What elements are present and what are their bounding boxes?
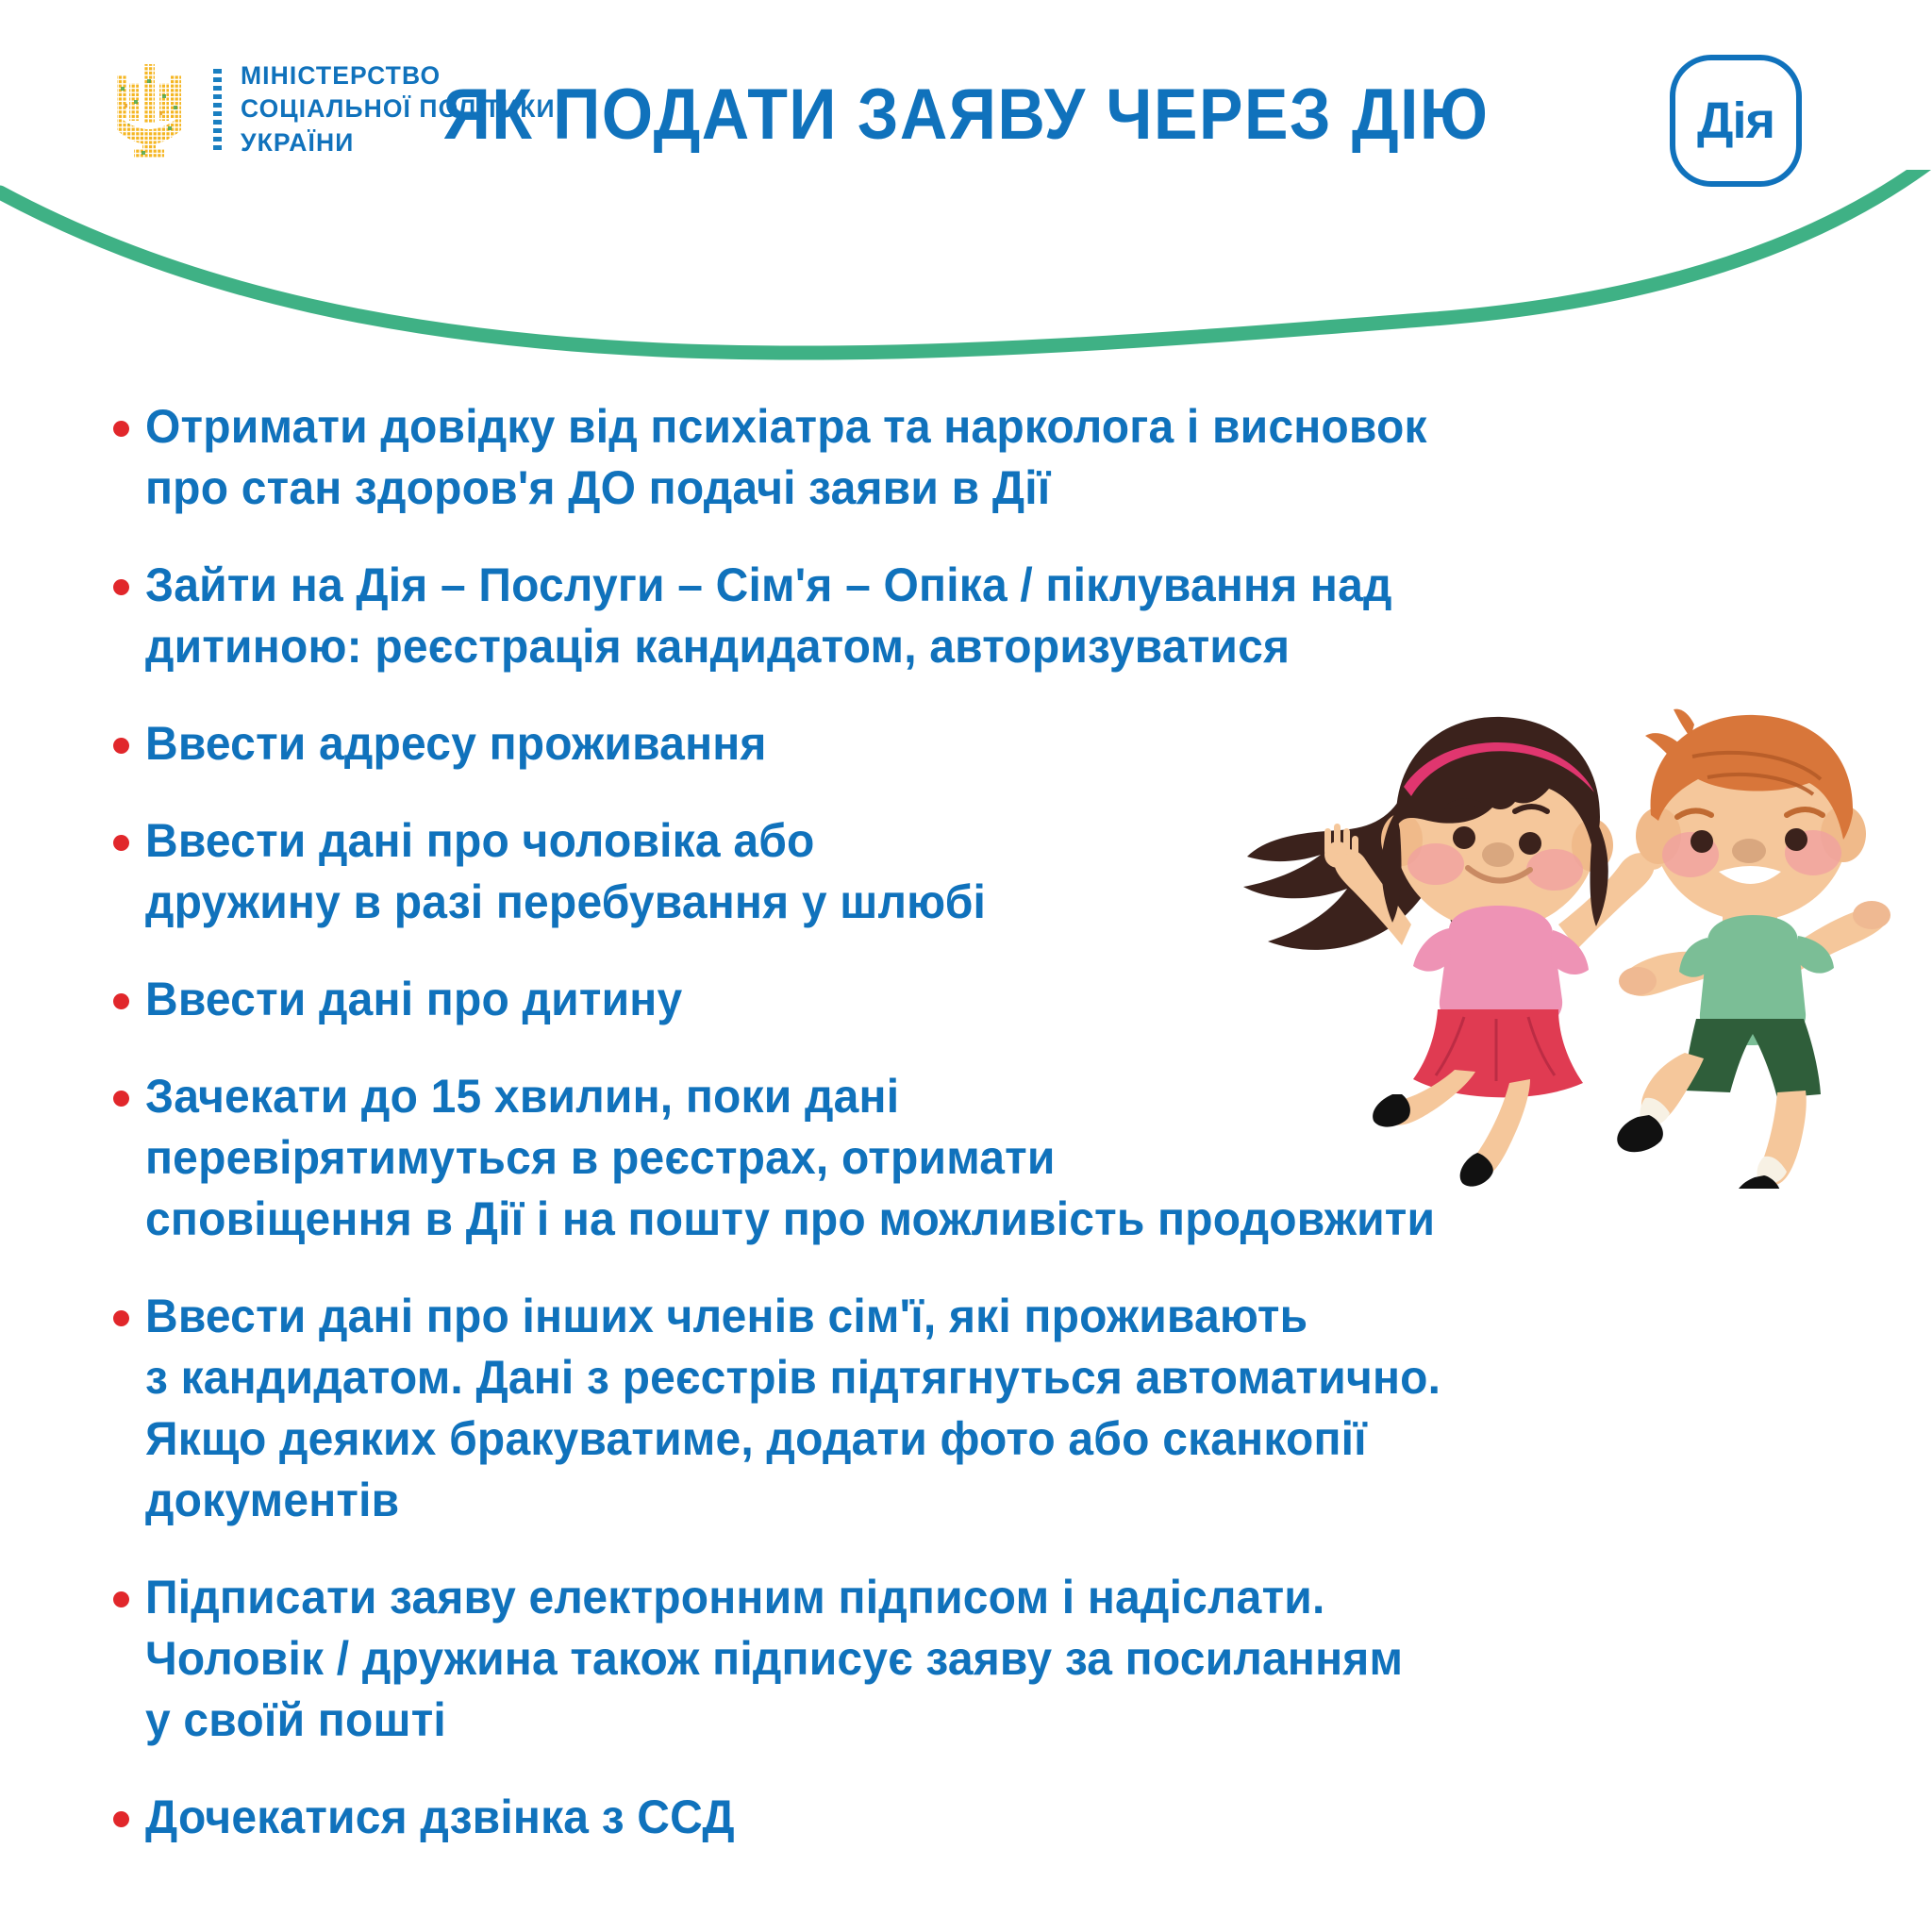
logo-divider: [213, 69, 222, 150]
list-item: Ввести дані про чоловіка або дружину в р…: [113, 810, 1736, 933]
list-item: Отримати довідку від психіатра та наркол…: [113, 396, 1736, 519]
dia-logo-label: Дія: [1697, 92, 1774, 150]
list-item-text: Отримати довідку від психіатра та наркол…: [145, 396, 1427, 519]
list-item: Підписати заяву електронним підписом і н…: [113, 1567, 1736, 1751]
list-item-text: Ввести адресу проживання: [145, 713, 767, 774]
list-item: Зайти на Дія – Послуги – Сім'я – Опіка /…: [113, 555, 1736, 677]
list-item-text: Зачекати до 15 хвилин, поки дані перевір…: [145, 1066, 1435, 1250]
bullet-dot-icon: [113, 1091, 129, 1107]
ministry-name-line-2: СОЦІАЛЬНОЇ ПОЛІТИКИ: [241, 92, 556, 125]
dia-logo-badge[interactable]: Дія: [1670, 55, 1802, 187]
bullet-dot-icon: [113, 993, 129, 1009]
list-item: Дочекатися дзвінка з ССД: [113, 1787, 1736, 1848]
bullet-dot-icon: [113, 421, 129, 437]
bullet-dot-icon: [113, 835, 129, 851]
infographic-page: МІНІСТЕРСТВО СОЦІАЛЬНОЇ ПОЛІТИКИ УКРАЇНИ…: [0, 0, 1932, 1932]
list-item: Ввести дані про інших членів сім'ї, які …: [113, 1286, 1736, 1531]
list-item: Ввести адресу проживання: [113, 713, 1736, 774]
list-item: Зачекати до 15 хвилин, поки дані перевір…: [113, 1066, 1736, 1250]
bullet-dot-icon: [113, 1811, 129, 1827]
list-item-text: Ввести дані про інших членів сім'ї, які …: [145, 1286, 1441, 1531]
list-item-text: Підписати заяву електронним підписом і н…: [145, 1567, 1403, 1751]
list-item-text: Ввести дані про чоловіка або дружину в р…: [145, 810, 986, 933]
bullet-dot-icon: [113, 579, 129, 595]
steps-list: Отримати довідку від психіатра та наркол…: [113, 396, 1736, 1884]
bullet-dot-icon: [113, 1591, 129, 1607]
green-wave-divider: [0, 170, 1932, 387]
ministry-name-line-1: МІНІСТЕРСТВО: [241, 59, 556, 92]
ministry-logo: МІНІСТЕРСТВО СОЦІАЛЬНОЇ ПОЛІТИКИ УКРАЇНИ: [106, 58, 556, 160]
ministry-name-line-3: УКРАЇНИ: [241, 126, 556, 159]
list-item-text: Дочекатися дзвінка з ССД: [145, 1787, 735, 1848]
list-item: Ввести дані про дитину: [113, 969, 1736, 1030]
bullet-dot-icon: [113, 1310, 129, 1326]
ministry-name: МІНІСТЕРСТВО СОЦІАЛЬНОЇ ПОЛІТИКИ УКРАЇНИ: [241, 59, 556, 159]
ukraine-trident-emblem-icon: [106, 58, 192, 160]
bullet-dot-icon: [113, 738, 129, 754]
list-item-text: Зайти на Дія – Послуги – Сім'я – Опіка /…: [145, 555, 1392, 677]
list-item-text: Ввести дані про дитину: [145, 969, 682, 1030]
